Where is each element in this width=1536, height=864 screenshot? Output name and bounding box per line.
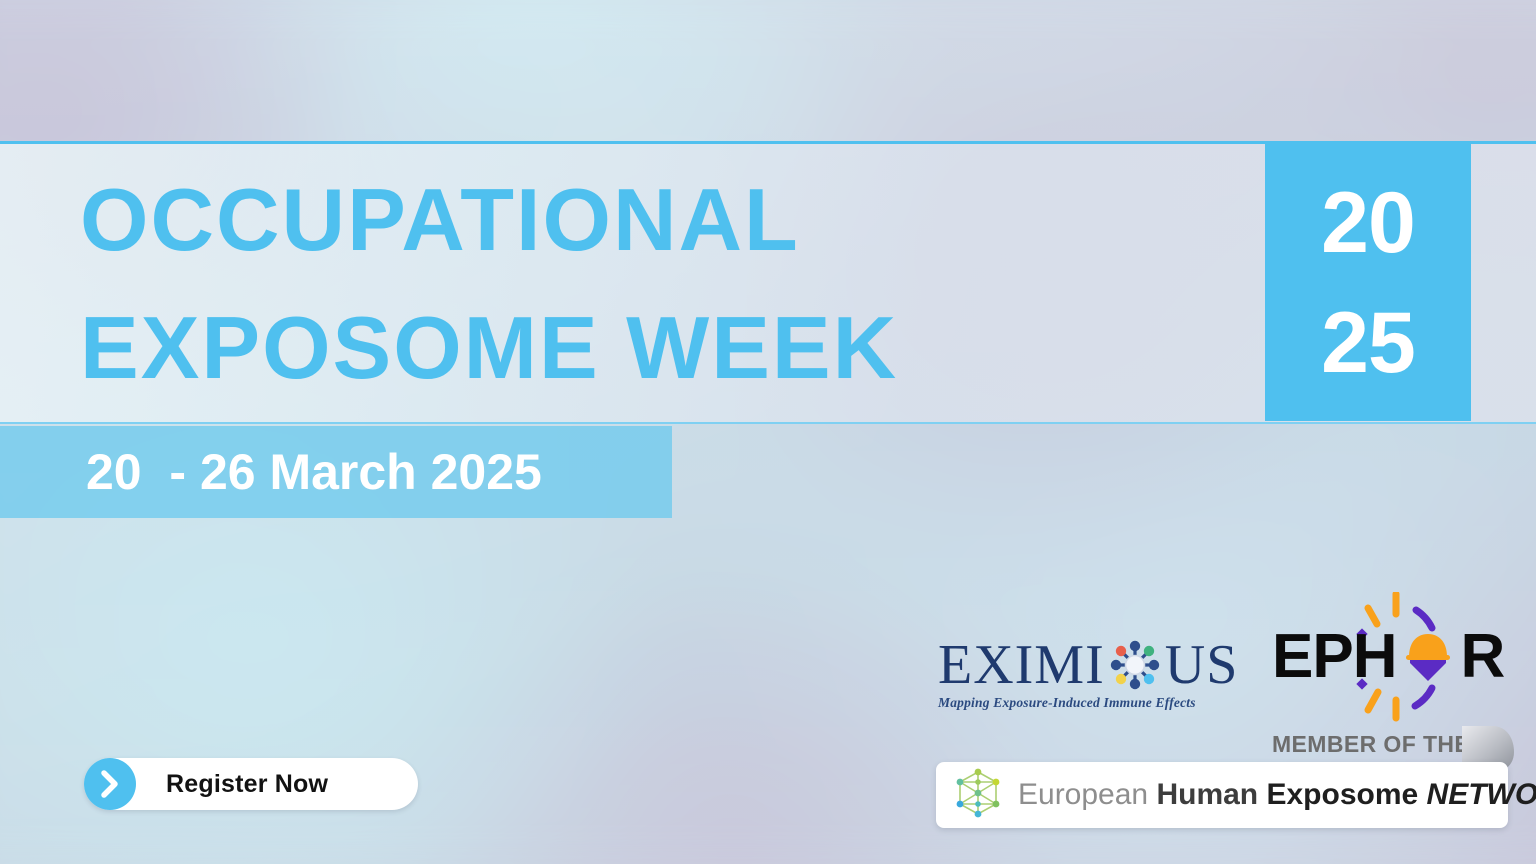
hardhat-sun-icon xyxy=(1397,624,1459,690)
ephor-text-part-1: EPH xyxy=(1272,626,1396,688)
ephor-wordmark: EPH R xyxy=(1272,624,1504,690)
hexagon-network-icon xyxy=(954,768,1002,823)
year-bottom: 25 xyxy=(1321,283,1415,403)
date-bar: 20 - 26 March 2025 xyxy=(0,426,672,518)
ehen-word-exposome: Exposome xyxy=(1266,778,1418,811)
ehen-wordmark: European Human Exposome NETWORK xyxy=(1018,779,1536,811)
eximious-logo: EXIMI xyxy=(938,636,1238,714)
year-block: 20 25 xyxy=(1265,144,1471,421)
ehen-word-human: Human xyxy=(1156,778,1258,811)
register-now-label: Register Now xyxy=(166,770,328,799)
banner-canvas: OCCUPATIONAL EXPOSOME WEEK 20 25 20 - 26… xyxy=(0,0,1536,864)
european-human-exposome-network-bar[interactable]: European Human Exposome NETWORK xyxy=(936,762,1508,828)
event-dates: 20 - 26 March 2025 xyxy=(86,443,542,501)
headline-line-2: EXPOSOME WEEK xyxy=(80,284,898,412)
register-now-button[interactable]: Register Now xyxy=(84,758,418,810)
ehen-word-network: NETWORK xyxy=(1427,778,1536,811)
eximious-tagline: Mapping Exposure-Induced Immune Effects xyxy=(938,695,1238,711)
chevron-right-icon xyxy=(84,758,136,810)
eximious-text-part-1: EXIMI xyxy=(938,636,1105,694)
ephor-logo: EPH R xyxy=(1272,592,1488,722)
eximious-wordmark: EXIMI xyxy=(938,636,1238,694)
ehen-word-european: European xyxy=(1018,778,1148,811)
headline-line-1: OCCUPATIONAL xyxy=(80,170,800,269)
molecule-icon xyxy=(1106,636,1164,694)
member-of-the-label: MEMBER OF THE xyxy=(1272,731,1470,758)
eximious-text-part-2: US xyxy=(1165,636,1239,694)
year-top: 20 xyxy=(1321,163,1415,283)
page-title: OCCUPATIONAL EXPOSOME WEEK xyxy=(80,156,898,412)
ephor-text-part-2: R xyxy=(1460,626,1504,688)
